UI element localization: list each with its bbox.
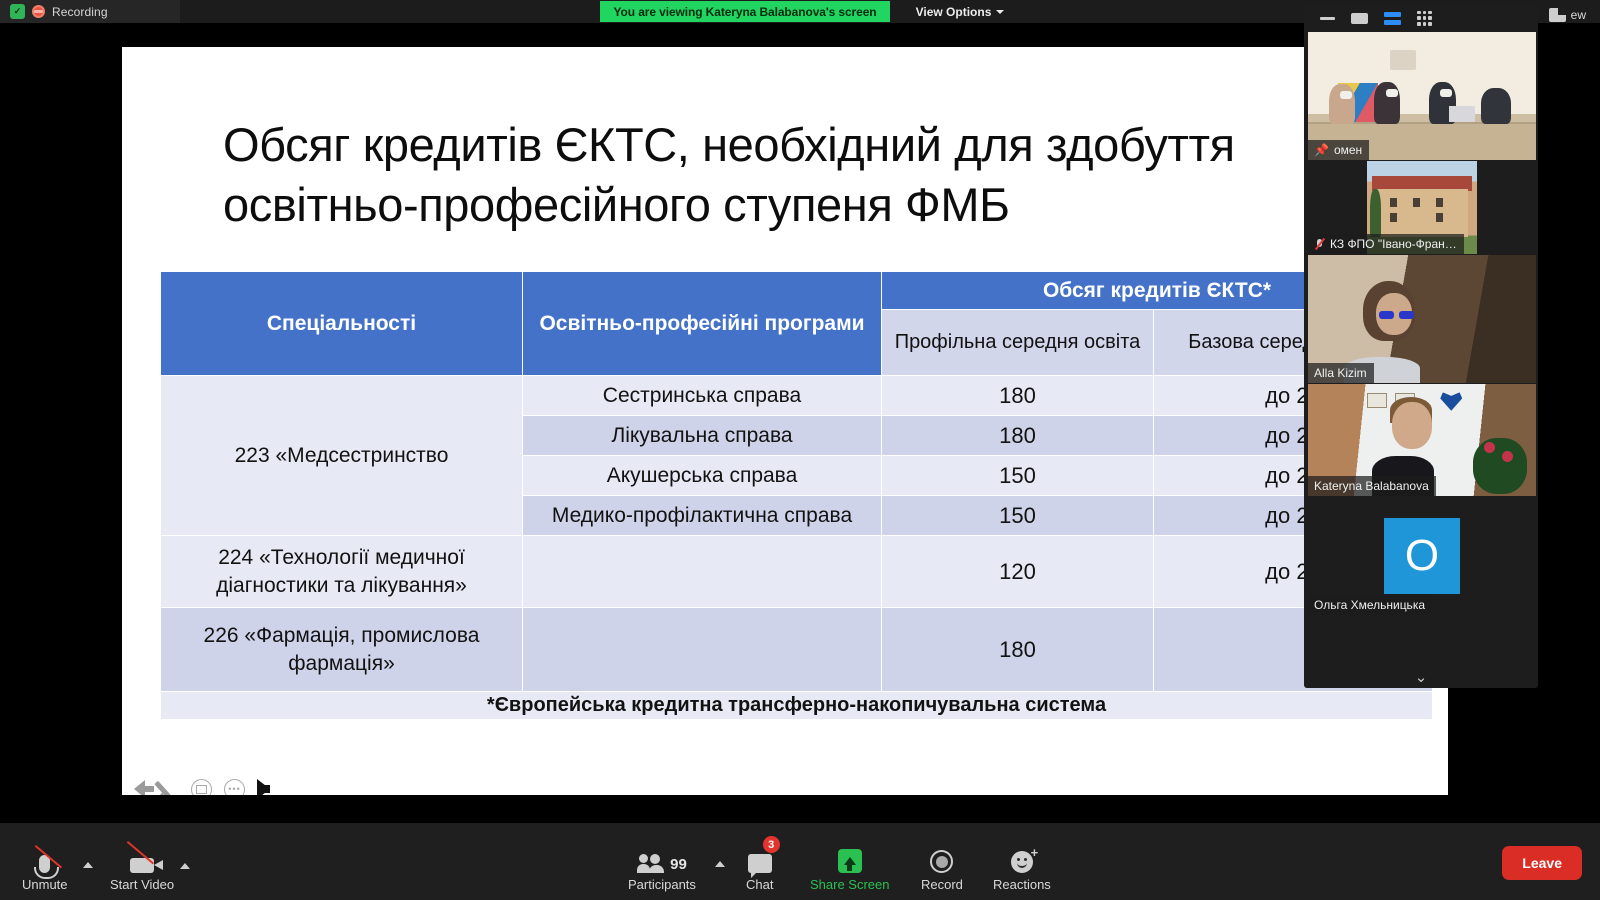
previous-slide-arrow-icon[interactable] bbox=[134, 780, 145, 795]
next-slide-arrow-icon[interactable] bbox=[257, 779, 270, 795]
cell-profile-credits: 180 bbox=[882, 608, 1154, 692]
start-video-label: Start Video bbox=[110, 877, 174, 892]
leave-button[interactable]: Leave bbox=[1502, 846, 1582, 880]
record-label: Record bbox=[921, 877, 963, 892]
filmstrip-view-controls: ew bbox=[1308, 4, 1534, 32]
table-footnote-row: *Європейська кредитна трансферно-накопич… bbox=[161, 692, 1433, 720]
video-tile-olha[interactable]: О Ольга Хмельницька bbox=[1308, 497, 1536, 615]
chat-bubble-icon: 3 bbox=[748, 843, 772, 873]
cell-profile-credits: 150 bbox=[882, 496, 1154, 536]
smiley-plus-icon: + bbox=[1011, 843, 1033, 873]
cell-profile-credits: 180 bbox=[882, 416, 1154, 456]
record-button[interactable]: Record bbox=[921, 843, 963, 892]
slide-view-icon[interactable] bbox=[191, 779, 212, 796]
participant-name-label: 📌 омен bbox=[1308, 140, 1369, 160]
col-header-specialties: Спеціальності bbox=[161, 272, 523, 376]
slide-title: Обсяг кредитів ЄКТС, необхідний для здоб… bbox=[223, 115, 1353, 235]
meeting-toolbar: Unmute Start Video 99 Participants 3 Cha… bbox=[0, 823, 1600, 900]
recording-indicator-group: ✓ Recording bbox=[0, 0, 180, 23]
video-tile-kateryna-balabanova[interactable]: Kateryna Balabanova bbox=[1308, 384, 1536, 496]
cell-profile-credits: 120 bbox=[882, 536, 1154, 608]
video-filmstrip-panel[interactable]: ew 📌 омен КЗ ФПО "Івано-Фран… A bbox=[1304, 4, 1538, 688]
video-tile-building[interactable]: КЗ ФПО "Івано-Фран… bbox=[1308, 161, 1536, 254]
participant-name: Kateryna Balabanova bbox=[1314, 479, 1429, 493]
chat-button[interactable]: 3 Chat bbox=[746, 843, 773, 892]
camera-off-icon bbox=[130, 843, 154, 873]
participant-name-label: Ольга Хмельницька bbox=[1308, 595, 1432, 615]
recording-label: Recording bbox=[52, 5, 108, 19]
avatar-initial: О bbox=[1384, 518, 1460, 594]
recording-dot-icon[interactable] bbox=[32, 5, 45, 18]
reactions-button[interactable]: + Reactions bbox=[993, 843, 1051, 892]
unmute-label: Unmute bbox=[22, 877, 68, 892]
participants-count: 99 bbox=[670, 856, 687, 873]
table-footnote: *Європейська кредитна трансферно-накопич… bbox=[161, 692, 1433, 720]
cell-program bbox=[523, 608, 882, 692]
participant-name: Ольга Хмельницька bbox=[1314, 598, 1425, 612]
chat-unread-badge: 3 bbox=[763, 836, 780, 853]
cell-program: Акушерська справа bbox=[523, 456, 882, 496]
credits-table: Спеціальності Освітньо-професійні програ… bbox=[160, 271, 1433, 720]
share-screen-button[interactable]: Share Screen bbox=[810, 843, 890, 892]
cell-program: Медико-профілактична справа bbox=[523, 496, 882, 536]
microphone-muted-icon bbox=[1314, 238, 1325, 251]
cell-program: Лікувальна справа bbox=[523, 416, 882, 456]
cell-program bbox=[523, 536, 882, 608]
view-options-button[interactable]: View Options bbox=[900, 0, 1020, 23]
exit-fullscreen-icon[interactable] bbox=[1549, 8, 1566, 22]
exit-fullscreen-group[interactable]: ew bbox=[1549, 8, 1586, 22]
participant-name: омен bbox=[1334, 143, 1362, 157]
participant-name: КЗ ФПО "Івано-Фран… bbox=[1330, 237, 1457, 251]
participant-name: Alla Kizim bbox=[1314, 366, 1367, 380]
reactions-label: Reactions bbox=[993, 877, 1051, 892]
table-header-row-1: Спеціальності Освітньо-професійні програ… bbox=[161, 272, 1433, 310]
cell-specialty-223: 223 «Медсестринство bbox=[161, 376, 523, 536]
screen-share-banner: You are viewing Kateryna Balabanova's sc… bbox=[600, 1, 890, 22]
table-row: 224 «Технології медичної діагностики та … bbox=[161, 536, 1433, 608]
presentation-slide: Обсяг кредитів ЄКТС, необхідний для здоб… bbox=[122, 47, 1448, 795]
col-header-programs: Освітньо-професійні програми bbox=[523, 272, 882, 376]
participant-name-label: Alla Kizim bbox=[1308, 363, 1374, 383]
strip-view-icon[interactable] bbox=[1384, 12, 1401, 25]
video-tile-alla-kizim[interactable]: Alla Kizim bbox=[1308, 255, 1536, 383]
chevron-down-icon bbox=[996, 10, 1004, 14]
chevron-down-icon[interactable]: ⌄ bbox=[1415, 668, 1428, 686]
cell-specialty-224: 224 «Технології медичної діагностики та … bbox=[161, 536, 523, 608]
cell-program: Сестринська справа bbox=[523, 376, 882, 416]
people-icon: 99 bbox=[637, 843, 687, 873]
share-screen-icon bbox=[838, 843, 862, 873]
single-view-icon[interactable] bbox=[1351, 13, 1368, 24]
annotation-toolbar: ••• bbox=[128, 769, 288, 795]
video-tile-conference-room[interactable]: 📌 омен bbox=[1308, 32, 1536, 160]
pin-icon: 📌 bbox=[1314, 143, 1329, 157]
participants-button[interactable]: 99 Participants bbox=[628, 843, 696, 892]
participants-label: Participants bbox=[628, 877, 696, 892]
exit-fullscreen-label: ew bbox=[1571, 8, 1586, 22]
security-shield-icon[interactable]: ✓ bbox=[10, 4, 25, 19]
table-row: 223 «Медсестринство Сестринська справа 1… bbox=[161, 376, 1433, 416]
cell-profile-credits: 150 bbox=[882, 456, 1154, 496]
annotate-pencil-icon[interactable] bbox=[157, 778, 179, 795]
view-options-label: View Options bbox=[916, 5, 992, 19]
more-options-icon[interactable]: ••• bbox=[224, 779, 245, 796]
chat-label: Chat bbox=[746, 877, 773, 892]
start-video-button[interactable]: Start Video bbox=[110, 843, 174, 892]
unmute-button[interactable]: Unmute bbox=[22, 843, 68, 892]
table-row: 226 «Фармація, промислова фармація» 180 bbox=[161, 608, 1433, 692]
cell-specialty-226: 226 «Фармація, промислова фармація» bbox=[161, 608, 523, 692]
minimize-icon[interactable] bbox=[1320, 17, 1335, 20]
microphone-muted-icon bbox=[39, 843, 50, 873]
gallery-view-icon[interactable] bbox=[1417, 11, 1432, 26]
col-header-profile-secondary: Профільна середня освіта bbox=[882, 310, 1154, 376]
participant-name-label: Kateryna Balabanova bbox=[1308, 476, 1436, 496]
participant-name-label: КЗ ФПО "Івано-Фран… bbox=[1308, 234, 1464, 254]
cell-profile-credits: 180 bbox=[882, 376, 1154, 416]
record-circle-icon bbox=[930, 843, 953, 873]
share-screen-label: Share Screen bbox=[810, 877, 890, 892]
